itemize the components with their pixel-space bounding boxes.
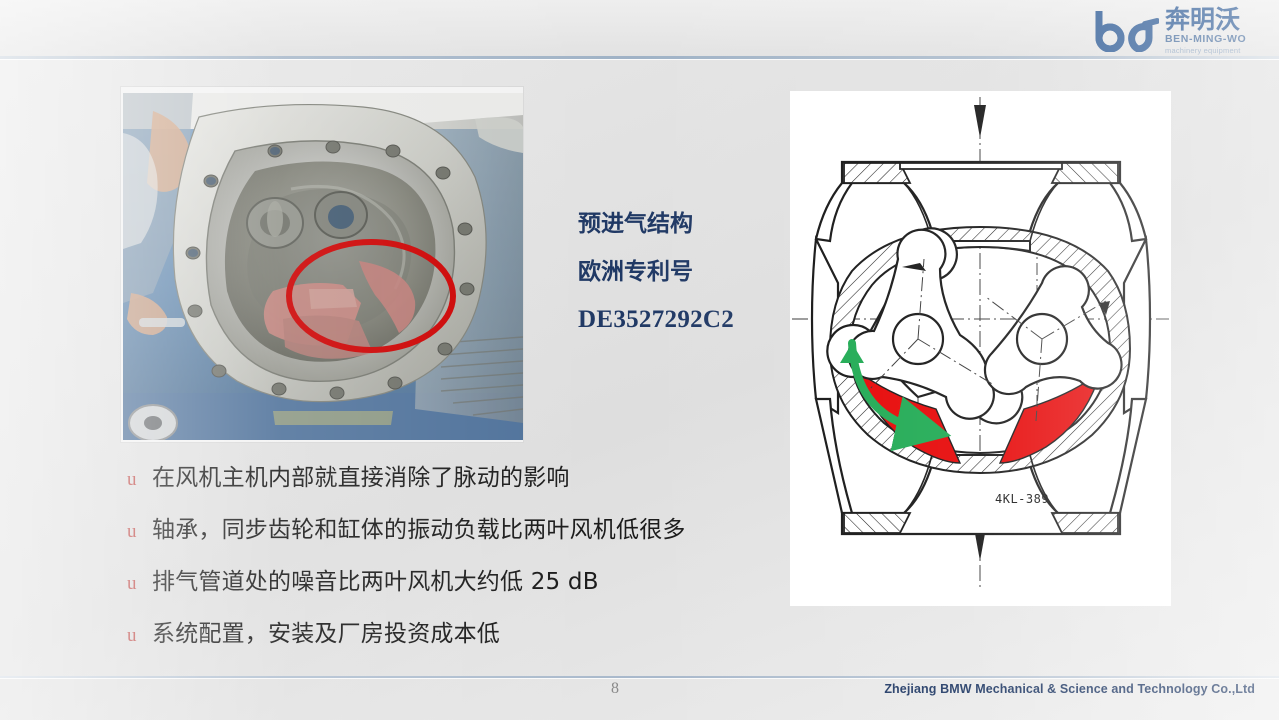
logo-text-block: 奔明沃 BEN-MING-WO machinery equipment bbox=[1165, 6, 1246, 54]
slide-header-band bbox=[0, 0, 1279, 57]
bullet-marker: u bbox=[118, 469, 152, 491]
logo-romanized-name: BEN-MING-WO bbox=[1165, 34, 1246, 45]
bo-monogram-icon bbox=[1095, 8, 1159, 52]
logo-chinese-name: 奔明沃 bbox=[1165, 7, 1246, 32]
bullet-text: 在风机主机内部就直接消除了脉动的影响 bbox=[152, 458, 570, 492]
patent-number: DE3527292C2 bbox=[578, 296, 793, 344]
bullet-list: u 在风机主机内部就直接消除了脉动的影响 u 轴承，同步齿轮和缸体的振动负载比两… bbox=[118, 458, 758, 666]
bullet-marker: u bbox=[118, 573, 152, 595]
header-divider-highlight bbox=[0, 59, 1279, 60]
blower-casing-photo-frame bbox=[120, 86, 524, 443]
diagram-part-label: 4KL-389 bbox=[995, 492, 1049, 506]
list-item: u 轴承，同步齿轮和缸体的振动负载比两叶风机低很多 bbox=[118, 510, 758, 562]
caption-line-2: 欧洲专利号 bbox=[578, 248, 793, 296]
blower-cross-section-diagram: 4KL-389 bbox=[790, 91, 1171, 606]
company-logo: 奔明沃 BEN-MING-WO machinery equipment bbox=[1095, 4, 1267, 56]
bullet-marker: u bbox=[118, 521, 152, 543]
caption-line-1: 预进气结构 bbox=[578, 200, 793, 248]
page-number: 8 bbox=[595, 680, 635, 698]
presentation-slide: 奔明沃 BEN-MING-WO machinery equipment bbox=[0, 0, 1279, 720]
list-item: u 排气管道处的噪音比两叶风机大约低 25 dB bbox=[118, 562, 758, 614]
footer-divider-highlight bbox=[0, 678, 1279, 679]
bullet-text: 轴承，同步齿轮和缸体的振动负载比两叶风机低很多 bbox=[152, 510, 686, 544]
logo-tagline: machinery equipment bbox=[1165, 47, 1246, 55]
footer-company-name: Zhejiang BMW Mechanical & Science and Te… bbox=[884, 682, 1255, 696]
slide-caption: 预进气结构 欧洲专利号 DE3527292C2 bbox=[578, 200, 793, 344]
bullet-text: 系统配置，安装及厂房投资成本低 bbox=[152, 614, 500, 648]
bullet-marker: u bbox=[118, 625, 152, 647]
bullet-text: 排气管道处的噪音比两叶风机大约低 25 dB bbox=[152, 562, 599, 596]
list-item: u 在风机主机内部就直接消除了脉动的影响 bbox=[118, 458, 758, 510]
photo-artwork bbox=[123, 93, 523, 440]
diagram-artwork: 4KL-389 bbox=[790, 91, 1171, 606]
blower-casing-photo bbox=[123, 93, 523, 440]
list-item: u 系统配置，安装及厂房投资成本低 bbox=[118, 614, 758, 666]
